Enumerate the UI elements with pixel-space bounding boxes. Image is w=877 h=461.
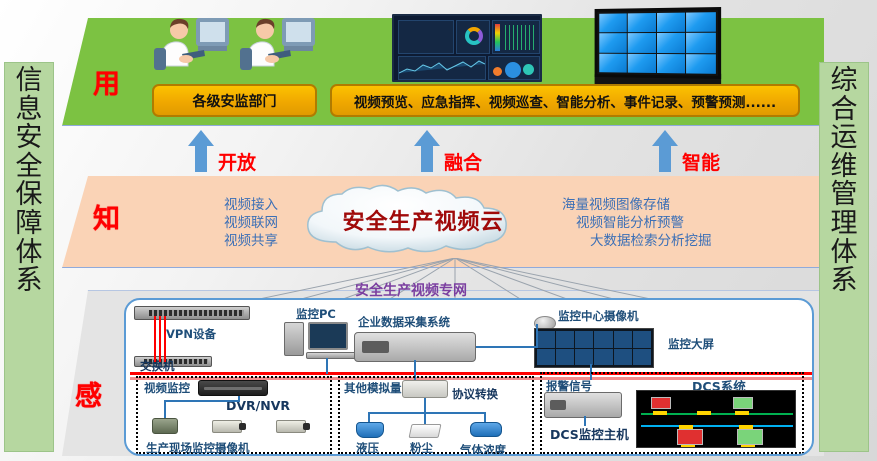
arrow-open-icon: [188, 130, 214, 172]
bullet-camera-icon: [276, 420, 306, 433]
sidebar-right-char-6: 体: [820, 239, 868, 268]
sidebar-left-char-7: 系: [5, 267, 53, 296]
control-room-photo: [534, 328, 654, 368]
sidebar-right-char-5: 理: [820, 210, 868, 239]
label-gas-concentration: 气体浓度: [460, 442, 506, 456]
pc-monitor-icon: [308, 322, 348, 350]
layer-label-know: 知: [93, 197, 120, 236]
cloud-left-item-0: 视频接入: [128, 196, 278, 214]
sidebar-right-char-7: 系: [820, 267, 868, 296]
cloud-right-item-2: 大数据检索分析挖掘: [562, 232, 792, 250]
device-label-data-collection: 企业数据采集系统: [358, 314, 450, 330]
sidebar-left-info-security: 信 息 安 全 保 障 体 系: [4, 62, 54, 452]
sidebar-right-char-4: 管: [820, 181, 868, 210]
arrow-label-intelligent: 智能: [682, 148, 720, 175]
hydraulic-sensor-icon: [356, 422, 384, 438]
sidebar-left-char-5: 障: [5, 210, 53, 239]
dcs-hmi-screenshot: [636, 390, 796, 448]
sidebar-right-char-1: 合: [820, 96, 868, 125]
link-blue: [536, 324, 538, 348]
arrow-fusion-icon: [414, 130, 440, 172]
link-red: [164, 316, 166, 362]
gas-sensor-icon: [470, 422, 502, 437]
ptz-camera-icon: [152, 418, 178, 434]
cloud-right-item-1: 视频智能分析预警: [562, 214, 792, 232]
architecture-diagram: 信 息 安 全 保 障 体 系 综 合 运 维 管 理 体 系 用 知 感: [0, 0, 877, 461]
link-blue: [584, 416, 586, 426]
link-blue: [326, 358, 328, 374]
private-network-label: 安全生产视频专网: [355, 280, 467, 300]
dust-sensor-icon: [409, 424, 442, 438]
protocol-converter-icon: [402, 380, 448, 398]
group-title-video-surveillance: 视频监控: [144, 380, 190, 396]
cloud-right-item-0: 海量视频图像存储: [562, 196, 792, 214]
bullet-camera-icon: [212, 420, 242, 433]
link-blue: [484, 412, 486, 422]
operator-at-computer-icon: [152, 8, 234, 70]
pill-application-functions[interactable]: 视频预览、应急指挥、视频巡查、智能分析、事件记录、预警预测......: [330, 84, 800, 117]
cloud-title: 安全生产视频云: [288, 204, 558, 236]
device-label-dcs-host: DCS监控主机: [550, 424, 629, 443]
layer-label-use: 用: [93, 62, 120, 101]
sidebar-left-char-0: 信: [5, 67, 53, 96]
video-wall-icon: [595, 7, 722, 79]
link-red: [159, 316, 161, 362]
sidebar-left-char-2: 安: [5, 124, 53, 153]
infrastructure-panel: VPN设备 交换机 监控PC 企业数据采集系统 监控中心摄像机 监控大屏: [124, 298, 814, 456]
link-blue: [238, 396, 240, 402]
arrow-label-fusion: 融合: [444, 148, 482, 175]
dcs-host-server-icon: [544, 392, 622, 418]
sidebar-right-char-3: 维: [820, 153, 868, 182]
arrow-label-open: 开放: [218, 148, 256, 175]
link-blue: [368, 412, 370, 422]
device-label-large-screen: 监控大屏: [668, 336, 714, 352]
sidebar-left-char-1: 息: [5, 96, 53, 125]
sidebar-left-char-3: 全: [5, 153, 53, 182]
cloud-left-item-1: 视频联网: [128, 214, 278, 232]
device-label-center-camera: 监控中心摄像机: [558, 308, 639, 324]
link-blue: [164, 400, 166, 418]
label-hydraulic: 液压: [356, 440, 379, 456]
sidebar-left-char-6: 体: [5, 239, 53, 268]
group-title-analog: 其他模拟量: [344, 380, 402, 396]
operator-at-computer-icon: [238, 8, 320, 70]
arrow-intelligent-icon: [652, 130, 678, 172]
device-label-protocol-convert: 协议转换: [452, 386, 498, 402]
device-label-monitor-pc: 监控PC: [296, 306, 336, 322]
sidebar-right-ops-management: 综 合 运 维 管 理 体 系: [819, 62, 869, 452]
data-collection-appliance-icon: [354, 332, 476, 362]
link-blue: [164, 400, 240, 402]
label-site-cameras: 生产现场监控摄像机: [146, 440, 250, 456]
pill-safety-departments[interactable]: 各级安监部门: [152, 84, 317, 117]
analytics-dashboard-screen: [392, 14, 542, 82]
keyboard-icon: [306, 352, 358, 359]
label-dust: 粉尘: [410, 440, 433, 456]
cloud-right-capabilities: 海量视频图像存储 视频智能分析预警 大数据检索分析挖掘: [562, 196, 792, 251]
cloud-left-item-2: 视频共享: [128, 232, 278, 250]
dvr-nvr-icon: [198, 380, 268, 396]
cloud-left-capabilities: 视频接入 视频联网 视频共享: [128, 196, 278, 251]
vpn-device-icon: [134, 306, 250, 320]
link-red: [154, 316, 156, 362]
sidebar-right-char-2: 运: [820, 124, 868, 153]
sidebar-left-char-4: 保: [5, 181, 53, 210]
layer-label-sense: 感: [75, 374, 102, 413]
desktop-tower-icon: [284, 322, 304, 356]
device-label-vpn: VPN设备: [166, 326, 216, 342]
link-blue: [368, 412, 486, 414]
sidebar-right-char-0: 综: [820, 67, 868, 96]
link-blue: [476, 346, 538, 348]
link-blue: [424, 398, 426, 424]
